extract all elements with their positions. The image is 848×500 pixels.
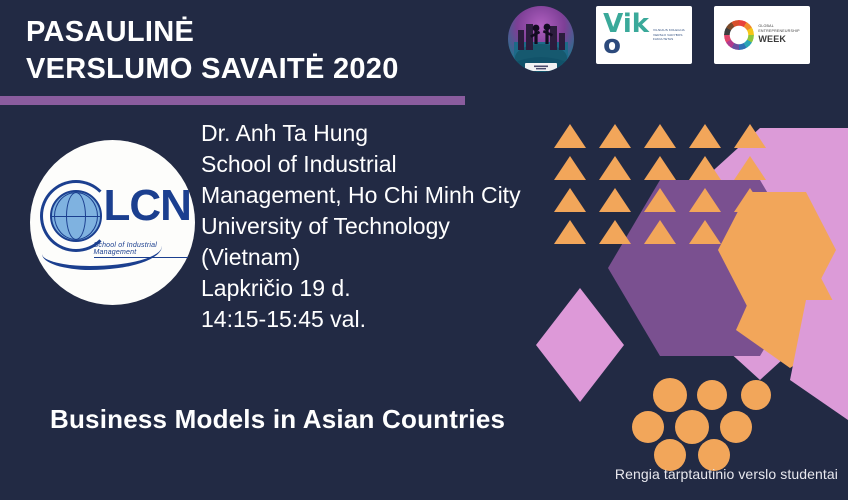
hexagon-purple	[608, 180, 812, 356]
divider-bar	[0, 96, 465, 105]
headline-line-2: VERSLUMO SAVAITĖ 2020	[26, 53, 399, 85]
partner-logo-row: Vik o VILNIAUS KOLEGIJA VERSLO VADYBOS F…	[508, 6, 810, 72]
hexagon-orange-lower	[736, 276, 848, 368]
global-entrepreneurship-week-logo: GLOBAL ENTREPRENEURSHIP WEEK	[714, 6, 810, 64]
viko-logo-text: VILNIAUS KOLEGIJA VERSLO VADYBOS FAKULTE…	[653, 28, 685, 41]
diamond-pink	[536, 288, 624, 402]
lcn-subtitle: School of Industrial Management	[94, 242, 188, 258]
gew-text-week: WEEK	[758, 34, 799, 46]
dot-grid	[632, 378, 771, 471]
viko-logo: Vik o VILNIAUS KOLEGIJA VERSLO VADYBOS F…	[596, 6, 692, 64]
viko-wordmark: Vik o	[603, 14, 649, 56]
color-wheel-icon	[724, 20, 754, 50]
viko-text-line-3: FAKULTETAS	[653, 37, 685, 41]
speaker-details: Dr. Anh Ta Hung School of Industrial Man…	[201, 118, 521, 334]
hexagon-orange	[718, 192, 836, 308]
organizer-note: Rengia tarptautinio verslo studentai	[615, 466, 838, 482]
event-badge-illustration	[508, 6, 574, 72]
hexagon-pink-large	[672, 128, 848, 380]
triangle-grid	[554, 124, 766, 244]
headline-line-1: PASAULINĖ	[26, 16, 194, 48]
lcn-wordmark: LCN	[104, 184, 191, 228]
lcn-logo: LCN School of Industrial Management	[30, 140, 195, 305]
hexagon-pink-lower	[790, 300, 848, 420]
session-title: Business Models in Asian Countries	[50, 404, 505, 435]
viko-mark-secondary: o	[603, 30, 621, 60]
gew-logo-text: GLOBAL ENTREPRENEURSHIP WEEK	[758, 24, 799, 45]
poster-canvas: PASAULINĖ VERSLUMO SAVAITĖ 2020	[0, 0, 848, 500]
page-title: PASAULINĖ VERSLUMO SAVAITĖ 2020	[26, 14, 399, 88]
gew-event-badge-logo	[508, 6, 574, 72]
